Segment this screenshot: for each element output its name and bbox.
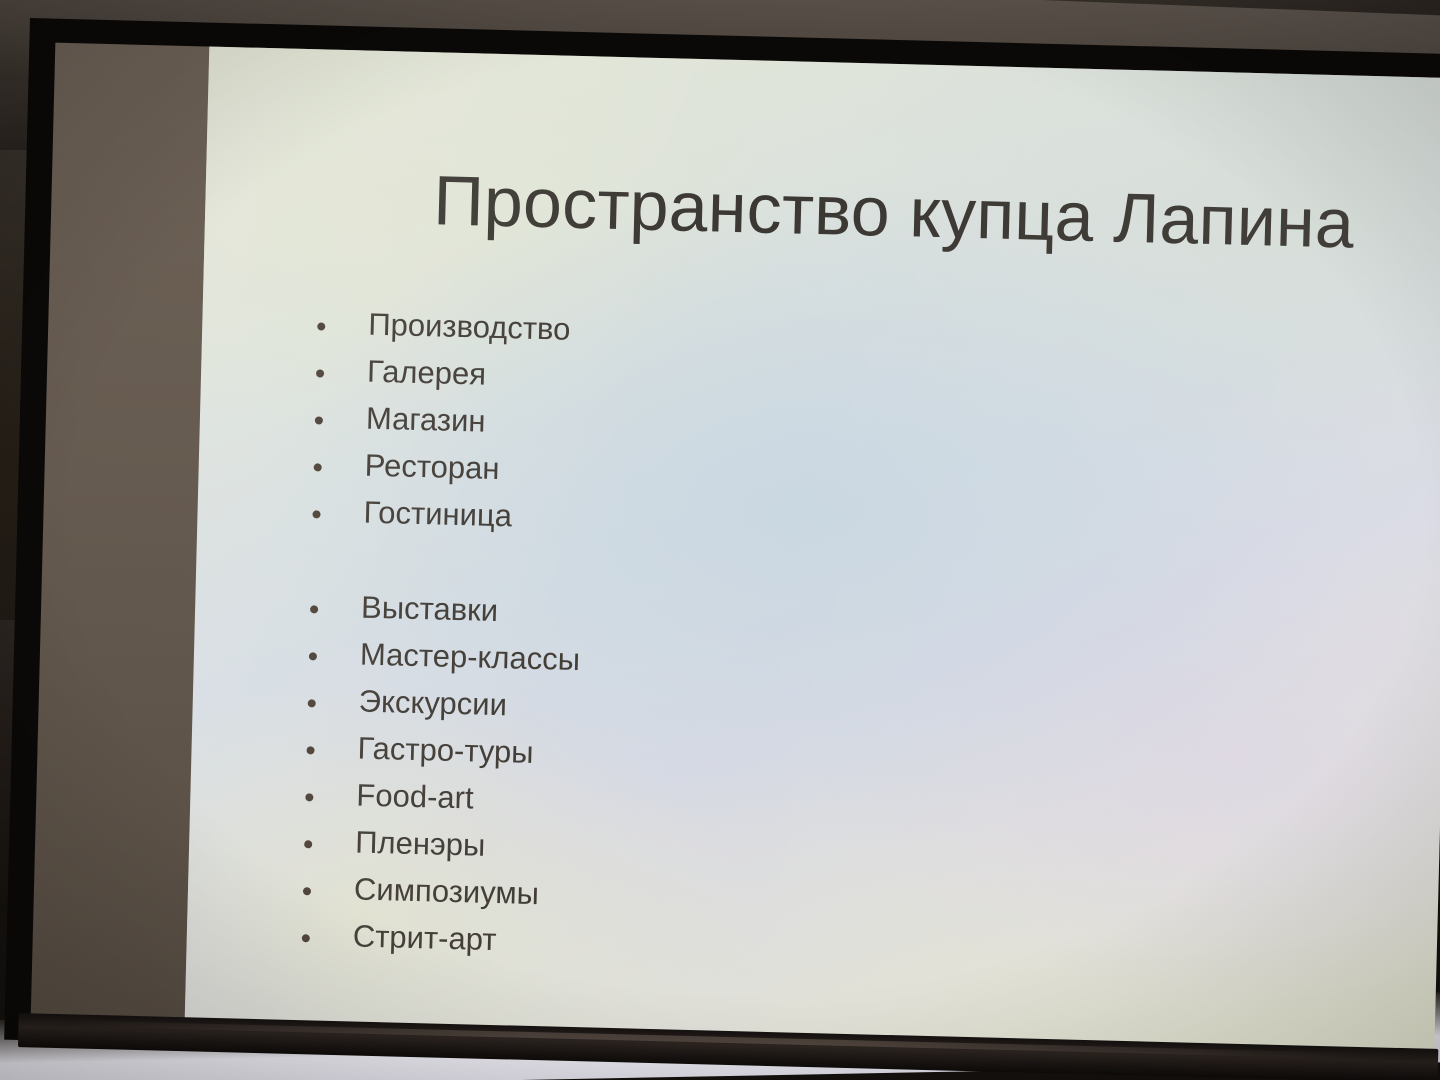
bullet-dot-icon [297,851,355,852]
bullet-group-activities: Выставки Мастер-классы Экскурсии Гастро-… [294,590,1303,991]
list-item-label: Гостиница [363,497,512,532]
bullet-dot-icon [310,333,368,334]
bullet-dot-icon [299,757,357,758]
list-item-label: Галерея [367,356,487,390]
bullet-dot-icon [302,663,360,664]
list-item-label: Экскурсии [358,686,507,721]
projected-slide: Пространство купца Лапина Производство Г… [184,47,1440,1063]
slide-bullet-list: Производство Галерея Магазин Ресторан [294,307,1310,991]
list-item-label: Производство [368,309,571,345]
bullet-dot-icon [295,945,353,946]
list-item-label: Магазин [366,403,486,437]
bullet-dot-icon [296,898,354,899]
bullet-group-facilities: Производство Галерея Магазин Ресторан [305,307,1311,567]
list-item-label: Food-art [356,780,474,814]
list-item-label: Симпозиумы [354,873,540,909]
list-item-label: Ресторан [364,450,499,484]
projection-photo: Пространство купца Лапина Производство Г… [0,0,1440,1080]
bullet-dot-icon [301,710,359,711]
bullet-dot-icon [309,380,367,381]
list-item-label: Пленэры [355,826,486,860]
bullet-dot-icon [298,804,356,805]
list-item-label: Выставки [361,592,499,626]
slide-title: Пространство купца Лапина [433,160,1356,263]
bullet-dot-icon [305,521,363,522]
projection-screen: Пространство купца Лапина Производство Г… [4,18,1440,1080]
bullet-dot-icon [307,474,365,475]
list-item-label: Мастер-классы [360,639,581,676]
bullet-dot-icon [308,427,366,428]
list-item-label: Стрит-арт [352,920,496,955]
bullet-dot-icon [303,616,361,617]
list-item-label: Гастро-туры [357,733,534,768]
